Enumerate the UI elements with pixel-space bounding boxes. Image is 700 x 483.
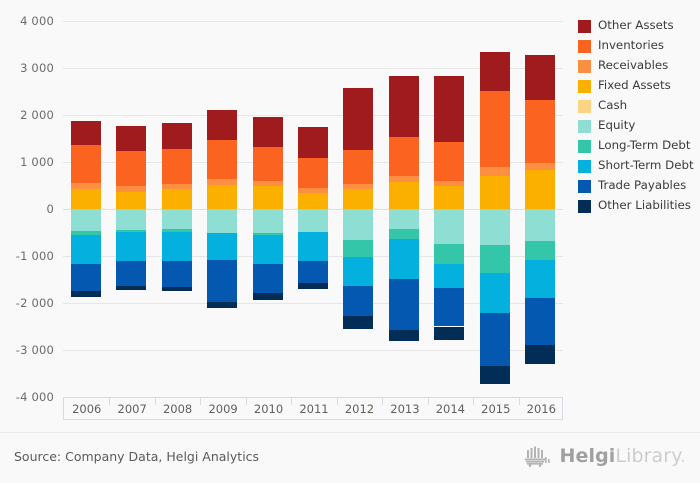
- bar-segment[interactable]: [434, 209, 464, 244]
- x-axis-separator: [291, 398, 292, 405]
- bar-segment[interactable]: [116, 286, 146, 290]
- x-axis-label-2010: 2010: [254, 402, 283, 416]
- bar-segment[interactable]: [162, 287, 192, 291]
- y-axis-tick-label: -2 000: [16, 296, 54, 310]
- bar-segment[interactable]: [480, 52, 510, 91]
- bar-segment[interactable]: [116, 151, 146, 187]
- bar-segment[interactable]: [162, 123, 192, 149]
- brand-secondary: Library: [615, 445, 679, 467]
- bar-2016[interactable]: [525, 21, 555, 397]
- bar-segment[interactable]: [253, 209, 283, 233]
- y-axis-tick-label: 0: [46, 202, 54, 216]
- legend-label: Other Liabilities: [598, 200, 691, 212]
- bar-segment[interactable]: [116, 126, 146, 150]
- x-axis-separator: [155, 398, 156, 405]
- bar-segment[interactable]: [298, 209, 328, 232]
- legend-swatch-icon: [578, 200, 591, 213]
- bar-segment[interactable]: [434, 186, 464, 209]
- legend-swatch-icon: [578, 20, 591, 33]
- legend-swatch-icon: [578, 40, 591, 53]
- bar-segment[interactable]: [434, 142, 464, 181]
- bar-2012[interactable]: [343, 21, 373, 397]
- bar-segment[interactable]: [116, 209, 146, 230]
- bar-segment[interactable]: [253, 293, 283, 300]
- bar-segment[interactable]: [343, 150, 373, 184]
- bar-segment[interactable]: [389, 229, 419, 239]
- legend-item[interactable]: Trade Payables: [578, 176, 696, 196]
- bar-segment[interactable]: [389, 330, 419, 341]
- legend-swatch-icon: [578, 60, 591, 73]
- bar-segment[interactable]: [298, 193, 328, 209]
- bar-segment[interactable]: [207, 110, 237, 140]
- bar-segment[interactable]: [343, 189, 373, 209]
- y-axis-tick-label: -3 000: [16, 343, 54, 357]
- y-axis-tick-label: 2 000: [20, 108, 54, 122]
- bar-segment[interactable]: [207, 302, 237, 308]
- bar-segment[interactable]: [480, 167, 510, 176]
- bar-segment[interactable]: [162, 189, 192, 209]
- bar-segment[interactable]: [71, 291, 101, 298]
- bar-segment[interactable]: [525, 345, 555, 363]
- bar-segment[interactable]: [389, 137, 419, 176]
- y-axis-tick-label: 3 000: [20, 61, 54, 75]
- legend-label: Cash: [598, 100, 627, 112]
- x-axis-separator: [246, 398, 247, 405]
- bar-segment[interactable]: [71, 145, 101, 183]
- bar-segment[interactable]: [389, 182, 419, 209]
- brand-primary: Helgi: [560, 445, 616, 467]
- x-axis-separator: [428, 398, 429, 405]
- bar-segment[interactable]: [480, 176, 510, 209]
- bar-2013[interactable]: [389, 21, 419, 397]
- bar-segment[interactable]: [207, 260, 237, 302]
- bar-segment[interactable]: [525, 241, 555, 260]
- bar-segment[interactable]: [434, 76, 464, 142]
- chart-legend: Other AssetsInventoriesReceivablesFixed …: [578, 16, 696, 216]
- legend-label: Long-Term Debt: [598, 140, 691, 152]
- x-axis-separator: [473, 398, 474, 405]
- bar-segment[interactable]: [434, 244, 464, 264]
- bar-segment[interactable]: [480, 209, 510, 245]
- bar-segment[interactable]: [480, 245, 510, 274]
- chart-page: -4 000-3 000-2 000-1 00001 0002 0003 000…: [0, 0, 700, 483]
- bar-segment[interactable]: [343, 316, 373, 329]
- legend-item[interactable]: Short-Term Debt: [578, 156, 696, 176]
- bar-segment[interactable]: [298, 261, 328, 284]
- x-axis-label-2011: 2011: [299, 402, 328, 416]
- legend-label: Inventories: [598, 40, 664, 52]
- bar-segment[interactable]: [389, 279, 419, 330]
- bar-segment[interactable]: [116, 192, 146, 209]
- bar-2010[interactable]: [253, 21, 283, 397]
- bar-2014[interactable]: [434, 21, 464, 397]
- x-axis-label-2007: 2007: [118, 402, 147, 416]
- bar-segment[interactable]: [298, 127, 328, 158]
- y-axis-tick-label: 4 000: [20, 14, 54, 28]
- bar-segment[interactable]: [71, 264, 101, 291]
- library-building-icon: [524, 445, 554, 467]
- legend-item[interactable]: Other Liabilities: [578, 196, 696, 216]
- bar-segment[interactable]: [71, 121, 101, 145]
- bar-2015[interactable]: [480, 21, 510, 397]
- bar-segment[interactable]: [298, 283, 328, 289]
- bar-segment[interactable]: [207, 233, 237, 259]
- legend-swatch-icon: [578, 140, 591, 153]
- bar-segment[interactable]: [389, 209, 419, 229]
- bar-segment[interactable]: [343, 240, 373, 257]
- y-axis-tick-label: 1 000: [20, 155, 54, 169]
- x-axis-label-2016: 2016: [527, 402, 556, 416]
- bar-segment[interactable]: [525, 55, 555, 100]
- bar-segment[interactable]: [253, 117, 283, 147]
- bar-segment[interactable]: [207, 140, 237, 179]
- legend-label: Receivables: [598, 60, 668, 72]
- x-axis-separator: [109, 398, 110, 405]
- legend-item[interactable]: Long-Term Debt: [578, 136, 696, 156]
- legend-item[interactable]: Other Assets: [578, 16, 696, 36]
- bar-segment[interactable]: [162, 232, 192, 261]
- x-axis-separator: [337, 398, 338, 405]
- x-axis-label-2012: 2012: [345, 402, 374, 416]
- helgi-library-logo[interactable]: HelgiLibrary.: [524, 445, 687, 467]
- x-axis-separator: [200, 398, 201, 405]
- bar-2009[interactable]: [207, 21, 237, 397]
- legend-item[interactable]: Fixed Assets: [578, 76, 696, 96]
- bar-segment[interactable]: [343, 88, 373, 150]
- bar-segment[interactable]: [116, 232, 146, 261]
- bar-segment[interactable]: [343, 209, 373, 240]
- bar-segment[interactable]: [480, 313, 510, 366]
- brand-suffix: .: [680, 445, 686, 467]
- bar-segment[interactable]: [525, 260, 555, 298]
- bar-segment[interactable]: [389, 76, 419, 137]
- bar-2011[interactable]: [298, 21, 328, 397]
- bar-segment[interactable]: [343, 257, 373, 286]
- bar-segment[interactable]: [162, 261, 192, 287]
- x-axis-separator: [382, 398, 383, 405]
- brand-wordmark: HelgiLibrary.: [560, 447, 687, 466]
- legend-label: Short-Term Debt: [598, 160, 694, 172]
- bar-segment[interactable]: [116, 261, 146, 286]
- x-axis-label-2013: 2013: [390, 402, 419, 416]
- bar-segment[interactable]: [525, 170, 555, 209]
- bar-segment[interactable]: [71, 189, 101, 209]
- plot-canvas: -4 000-3 000-2 000-1 00001 0002 0003 000…: [63, 21, 563, 397]
- bar-segment[interactable]: [253, 264, 283, 292]
- bar-segment[interactable]: [434, 288, 464, 327]
- x-axis-label-2008: 2008: [163, 402, 192, 416]
- x-axis-label-2014: 2014: [436, 402, 465, 416]
- x-axis-label-2015: 2015: [481, 402, 510, 416]
- bar-segment[interactable]: [253, 186, 283, 209]
- legend-label: Equity: [598, 120, 635, 132]
- bar-2006[interactable]: [71, 21, 101, 397]
- bar-segment[interactable]: [253, 147, 283, 181]
- legend-swatch-icon: [578, 80, 591, 93]
- y-axis-tick-label: -4 000: [16, 390, 54, 404]
- x-axis-separator: [519, 398, 520, 405]
- legend-swatch-icon: [578, 160, 591, 173]
- legend-swatch-icon: [578, 120, 591, 133]
- bar-segment[interactable]: [480, 366, 510, 384]
- legend-label: Trade Payables: [598, 180, 686, 192]
- bar-segment[interactable]: [434, 327, 464, 340]
- bar-segment[interactable]: [253, 235, 283, 264]
- legend-item[interactable]: Cash: [578, 96, 696, 116]
- legend-item[interactable]: Receivables: [578, 56, 696, 76]
- bar-segment[interactable]: [207, 209, 237, 233]
- bar-segment[interactable]: [525, 209, 555, 241]
- legend-label: Other Assets: [598, 20, 674, 32]
- bar-segment[interactable]: [480, 273, 510, 312]
- bar-segment[interactable]: [298, 232, 328, 261]
- bar-segment[interactable]: [207, 185, 237, 209]
- bar-segment[interactable]: [298, 158, 328, 188]
- legend-item[interactable]: Inventories: [578, 36, 696, 56]
- bar-segment[interactable]: [389, 239, 419, 279]
- bar-segment[interactable]: [162, 209, 192, 229]
- bar-segment[interactable]: [71, 209, 101, 231]
- bar-segment[interactable]: [71, 235, 101, 264]
- bar-segment[interactable]: [525, 298, 555, 345]
- bar-segment[interactable]: [343, 286, 373, 316]
- legend-item[interactable]: Equity: [578, 116, 696, 136]
- bar-2008[interactable]: [162, 21, 192, 397]
- legend-label: Fixed Assets: [598, 80, 671, 92]
- bar-segment[interactable]: [162, 149, 192, 184]
- chart-footer: Source: Company Data, Helgi Analytics: [0, 432, 700, 483]
- legend-swatch-icon: [578, 100, 591, 113]
- x-axis-label-2006: 2006: [72, 402, 101, 416]
- bar-2007[interactable]: [116, 21, 146, 397]
- y-axis-tick-label: -1 000: [16, 249, 54, 263]
- bar-segment[interactable]: [434, 264, 464, 288]
- legend-swatch-icon: [578, 180, 591, 193]
- chart-plot-area: -4 000-3 000-2 000-1 00001 0002 0003 000…: [0, 0, 575, 420]
- x-axis-label-2009: 2009: [208, 402, 237, 416]
- source-note: Source: Company Data, Helgi Analytics: [14, 449, 259, 464]
- bar-segment[interactable]: [480, 91, 510, 168]
- bar-segment[interactable]: [525, 100, 555, 163]
- x-axis: 2006200720082009201020112012201320142015…: [63, 397, 563, 420]
